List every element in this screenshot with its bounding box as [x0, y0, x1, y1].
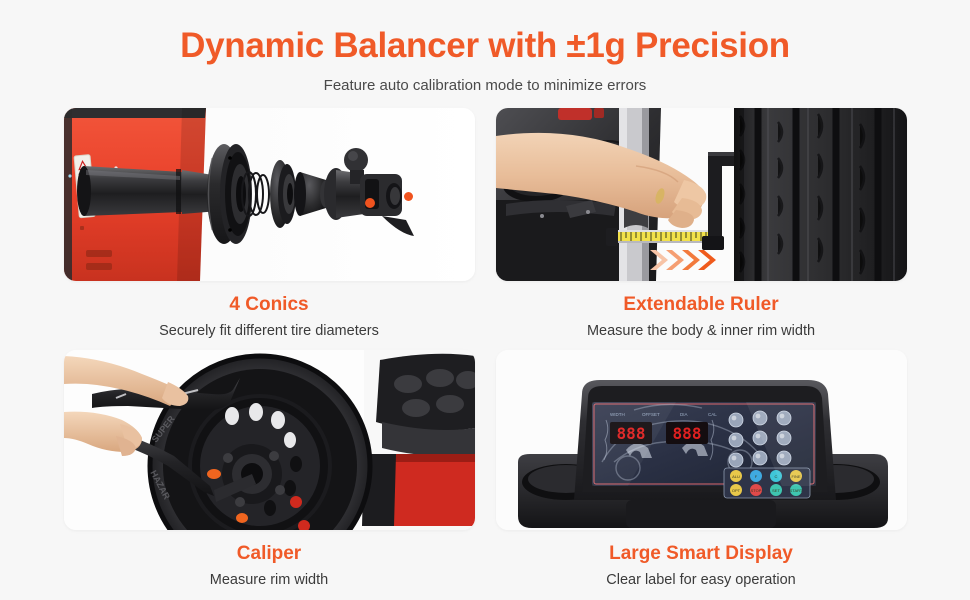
balancer-shaft-with-cones-photo — [64, 108, 475, 281]
caption-caliper: Caliper Measure rim width — [64, 530, 475, 589]
feature-title-display: Large Smart Display — [496, 543, 907, 566]
caption-ruler: Extendable Ruler Measure the body & inne… — [496, 281, 907, 340]
led-value-right: 888 — [672, 424, 701, 443]
caption-conics: 4 Conics Securely fit different tire dia… — [64, 281, 475, 340]
feature-card-caliper: SUPER HAZAR — [64, 350, 475, 589]
feature-subtitle-ruler: Measure the body & inner rim width — [496, 323, 907, 340]
svg-text:START: START — [789, 488, 802, 493]
svg-text:C: C — [774, 474, 777, 479]
feature-subtitle-conics: Securely fit different tire diameters — [64, 323, 475, 340]
feature-card-conics: 4 Conics Securely fit different tire dia… — [64, 108, 475, 340]
feature-title-conics: 4 Conics — [64, 294, 475, 317]
feature-subtitle-caliper: Measure rim width — [64, 572, 475, 589]
caption-display: Large Smart Display Clear label for easy… — [496, 530, 907, 589]
svg-text:ALU: ALU — [732, 474, 740, 479]
svg-text:OPT: OPT — [731, 488, 740, 493]
feature-subtitle-display: Clear label for easy operation — [496, 572, 907, 589]
svg-text:SET: SET — [772, 488, 780, 493]
feature-card-display: WIDTHOFFSET DIACAL 888 888 — [496, 350, 907, 589]
control-panel-display-photo: WIDTHOFFSET DIACAL 888 888 — [496, 350, 907, 530]
feature-infographic: Dynamic Balancer with ±1g Precision Feat… — [0, 0, 970, 600]
feature-title-ruler: Extendable Ruler — [496, 294, 907, 317]
svg-text:STOP: STOP — [750, 488, 761, 493]
extendable-ruler-photo — [496, 108, 907, 281]
page-title: Dynamic Balancer with ±1g Precision — [0, 28, 970, 63]
feature-card-ruler: Extendable Ruler Measure the body & inne… — [496, 108, 907, 340]
feature-title-caliper: Caliper — [64, 543, 475, 566]
led-display-right: 888 — [666, 422, 708, 444]
svg-text:DIA: DIA — [680, 412, 688, 417]
caliper-photo: SUPER HAZAR — [64, 350, 475, 530]
svg-text:CAL: CAL — [708, 412, 717, 417]
header: Dynamic Balancer with ±1g Precision Feat… — [0, 0, 970, 94]
page-subtitle: Feature auto calibration mode to minimiz… — [0, 77, 970, 94]
feature-grid: 4 Conics Securely fit different tire dia… — [0, 108, 970, 589]
